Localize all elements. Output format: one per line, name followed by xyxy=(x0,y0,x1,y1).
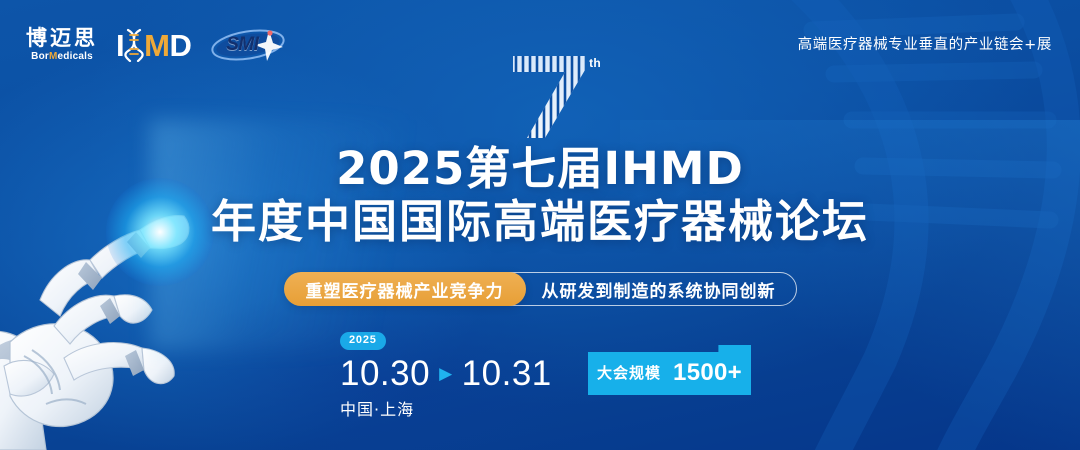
title-line-2: 年度中国国际高端医疗器械论坛 xyxy=(0,199,1080,246)
date-end: 10.31 xyxy=(462,356,552,391)
seventh-number-icon xyxy=(503,48,599,144)
scale-label: 大会规模 xyxy=(597,362,661,383)
title-block: 2025第七届IHMD 年度中国国际高端医疗器械论坛 xyxy=(0,146,1080,246)
date-block: 2025 10.30 ▶ 10.31 中国·上海 xyxy=(340,330,552,420)
logo-smi-text: SMI xyxy=(226,34,270,56)
date-range: 10.30 ▶ 10.31 xyxy=(340,356,552,391)
logo-ihmd-letter-m: M xyxy=(144,30,169,61)
edition-ordinal-suffix: th xyxy=(589,56,601,70)
logo-smi[interactable]: SMI xyxy=(209,28,287,62)
subtitle-pill-primary: 重塑医疗器械产业竞争力 xyxy=(284,272,526,306)
logo-group: 博迈思 BorMedicals I xyxy=(26,28,287,62)
logo-bormedicals-en: BorMedicals xyxy=(31,52,93,62)
scale-value: 1500+ xyxy=(673,359,742,387)
date-separator-icon: ▶ xyxy=(439,365,453,382)
subtitle-row: 重塑医疗器械产业竞争力 从研发到制造的系统协同创新 xyxy=(0,272,1080,306)
logo-ihmd-letter-d: D xyxy=(169,30,191,61)
logo-bormedicals[interactable]: 博迈思 BorMedicals xyxy=(26,28,98,62)
date-start: 10.30 xyxy=(340,356,430,391)
scale-ribbon: 大会规模 1500+ xyxy=(588,345,751,395)
header-tagline: 高端医疗器械专业垂直的产业链会+展 xyxy=(798,33,1052,54)
subtitle-pill-group: 重塑医疗器械产业竞争力 从研发到制造的系统协同创新 xyxy=(284,272,797,306)
logo-bor-suffix: edicals xyxy=(58,51,93,62)
title-line-1: 2025第七届IHMD xyxy=(0,146,1080,193)
event-location: 中国·上海 xyxy=(340,396,552,420)
edition-mark: th xyxy=(503,48,599,144)
dna-helix-icon xyxy=(124,28,144,62)
logo-bor-prefix: Bor xyxy=(31,51,49,62)
logo-ihmd-letter-i: I xyxy=(116,30,124,61)
logo-ihmd[interactable]: I M xyxy=(116,28,191,62)
event-banner: 博迈思 BorMedicals I xyxy=(0,0,1080,450)
logo-bormedicals-cn: 博迈思 xyxy=(26,28,98,49)
date-year-badge: 2025 xyxy=(340,332,386,350)
logo-bor-highlight: M xyxy=(49,51,58,62)
